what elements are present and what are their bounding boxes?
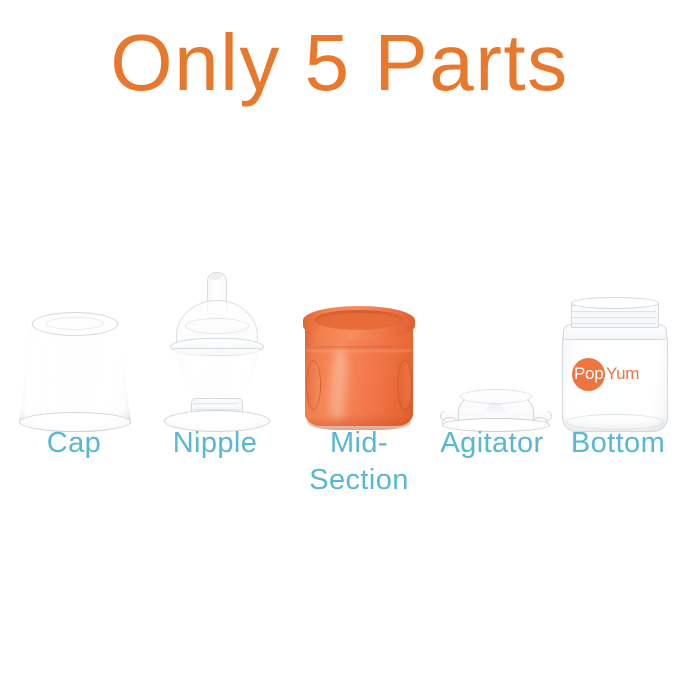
cap-top-inner-ring bbox=[46, 317, 104, 330]
part-image-bottom: Pop Yum bbox=[560, 300, 668, 432]
part-label-mid-section-line2: Section bbox=[309, 464, 409, 496]
part-label-mid-section-line1: Mid- bbox=[330, 427, 388, 459]
product-parts-infographic: Only 5 Parts bbox=[0, 0, 679, 679]
parts-row: Pop Yum bbox=[0, 262, 679, 432]
part-image-cap bbox=[18, 310, 130, 432]
mid-section-groove bbox=[305, 346, 413, 354]
jar-neck-top-rim bbox=[571, 297, 659, 309]
mid-section-grip-right bbox=[397, 360, 412, 410]
part-label-agitator: Agitator bbox=[424, 425, 560, 462]
agitator-top-ring bbox=[460, 389, 532, 404]
jar-thread-line-2 bbox=[572, 311, 656, 312]
logo-text-yum: Yum bbox=[606, 365, 639, 383]
part-label-nipple: Nipple bbox=[152, 425, 278, 462]
nipple-stem-line-1 bbox=[193, 403, 239, 404]
part-label-mid-section: Mid- Section bbox=[296, 425, 422, 499]
part-label-bottom: Bottom bbox=[556, 425, 679, 462]
page-title: Only 5 Parts bbox=[0, 18, 679, 108]
mid-section-highlight bbox=[329, 348, 349, 420]
part-image-mid-section bbox=[303, 304, 415, 432]
jar-thread-line-4 bbox=[572, 323, 656, 324]
popyum-logo: Pop Yum bbox=[572, 358, 656, 392]
part-image-nipple bbox=[160, 272, 270, 432]
mid-section-grip-left bbox=[306, 360, 321, 410]
mid-section-opening bbox=[319, 313, 399, 327]
nipple-teat-tip bbox=[209, 273, 223, 280]
cap-highlight bbox=[38, 340, 64, 416]
part-label-cap: Cap bbox=[14, 425, 134, 462]
logo-text-pop: Pop bbox=[574, 365, 603, 383]
jar-thread-line-3 bbox=[572, 317, 656, 318]
nipple-dome-ring bbox=[185, 318, 249, 334]
